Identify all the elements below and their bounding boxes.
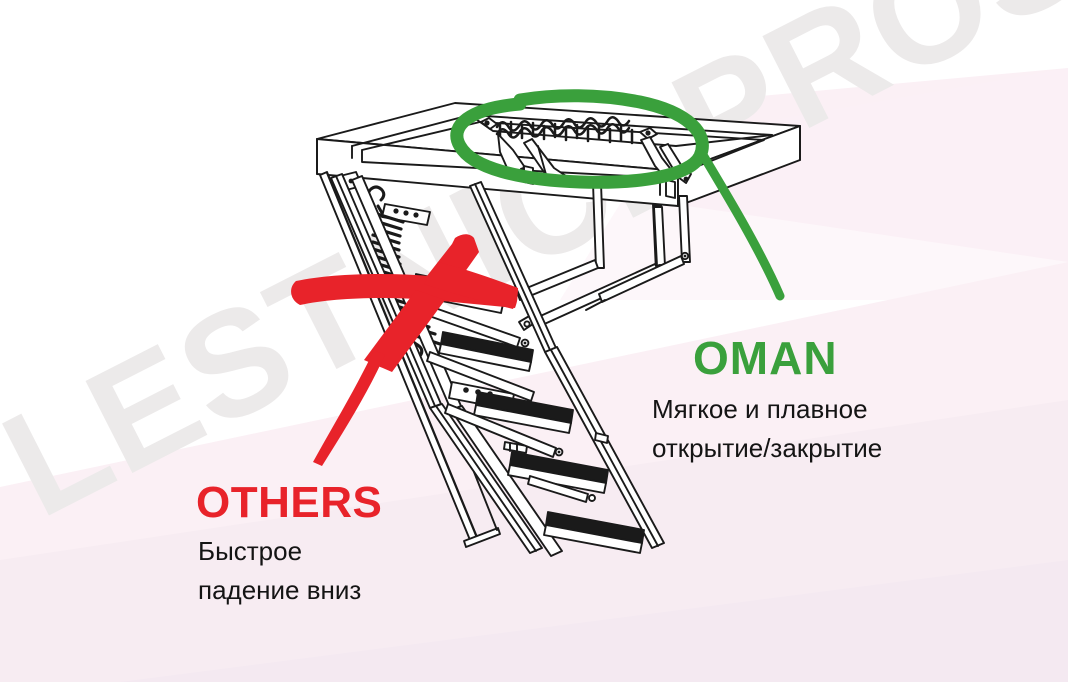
others-description-line-1: Быстрое [198,536,302,567]
oman-description-line-2: открытие/закрытие [652,433,882,464]
others-title: OTHERS [196,478,382,528]
red-arrow-marker [0,0,1068,682]
oman-title: OMAN [693,331,838,385]
red-arrow-icon [291,234,518,466]
oman-description-line-1: Мягкое и плавное [652,394,868,425]
illustration-canvas: LESTNICI-PROSTO.RU [0,0,1068,682]
others-description-line-2: падение вниз [198,575,361,606]
